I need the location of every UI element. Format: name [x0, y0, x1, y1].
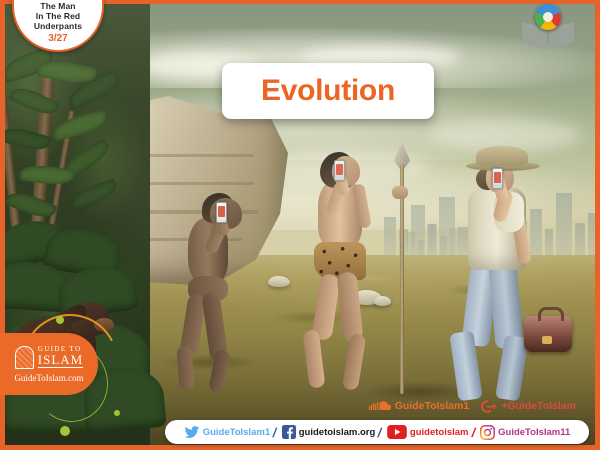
hat: [476, 146, 528, 166]
brand-url[interactable]: GuideToIslam.com: [14, 373, 83, 383]
decorative-dot: [60, 426, 70, 436]
mobile-phone-icon: [492, 168, 503, 189]
decorative-dot: [114, 410, 120, 416]
brand-line-2: ISLAM: [38, 353, 83, 368]
globe-book-logo[interactable]: [522, 4, 574, 50]
separator: /: [272, 425, 279, 440]
googleplus-icon: [480, 399, 497, 414]
facebook-icon: [282, 425, 296, 439]
caveman-figure: [300, 152, 396, 392]
series-title-line-2: In The Red: [36, 11, 80, 21]
briefcase: [524, 316, 572, 352]
brand-panel[interactable]: GUIDE TO ISLAM GuideToIslam.com: [0, 333, 98, 395]
youtube-icon: [387, 425, 407, 439]
twitter-icon: [184, 425, 200, 439]
brand-logo: GUIDE TO ISLAM: [15, 346, 83, 369]
social-link-instagram[interactable]: GuideToIslam11: [480, 425, 570, 440]
separator: /: [377, 425, 384, 440]
social-link-googleplus[interactable]: +GuideToIslam: [480, 399, 576, 414]
social-handle-twitter: GuideToIslam1: [203, 427, 270, 438]
decorative-dot: [56, 316, 64, 324]
soundcloud-icon: [369, 400, 391, 412]
social-handle-facebook: guidetoislam.org: [299, 427, 376, 438]
series-title-line-3: Underpants: [34, 21, 82, 31]
social-link-soundcloud[interactable]: GuideToIslam1: [369, 400, 470, 412]
mosque-arch-icon: [15, 346, 34, 369]
separator: /: [470, 425, 477, 440]
social-handle-googleplus: +GuideToIslam: [501, 400, 576, 412]
page-title: Evolution: [261, 74, 395, 108]
series-title-line-1: The Man: [40, 1, 75, 11]
mobile-phone-icon: [334, 160, 345, 181]
social-handle-youtube: guidetoislam: [410, 427, 469, 438]
page-counter: 3/27: [48, 32, 67, 45]
rock: [268, 276, 290, 287]
slide-canvas: The Man In The Red Underpants 3/27 Evolu…: [0, 0, 600, 450]
social-handle-soundcloud: GuideToIslam1: [395, 400, 470, 412]
hominid-figure: [172, 196, 256, 392]
modern-man-figure: [452, 146, 572, 402]
social-link-twitter[interactable]: GuideToIslam1 /: [184, 425, 277, 440]
mobile-phone-icon: [216, 202, 227, 223]
social-links-primary: GuideToIslam1 +GuideToIslam: [369, 396, 576, 416]
social-link-facebook[interactable]: guidetoislam.org /: [282, 425, 382, 440]
title-card: Evolution: [222, 63, 434, 119]
frame-right: [595, 0, 600, 450]
globe-icon: [535, 4, 561, 30]
social-links-bar: GuideToIslam1 / guidetoislam.org / guide…: [165, 420, 589, 444]
social-link-youtube[interactable]: guidetoislam /: [387, 425, 475, 440]
social-handle-instagram: GuideToIslam11: [498, 427, 570, 438]
instagram-icon: [480, 425, 495, 440]
frame-bottom: [0, 445, 600, 450]
